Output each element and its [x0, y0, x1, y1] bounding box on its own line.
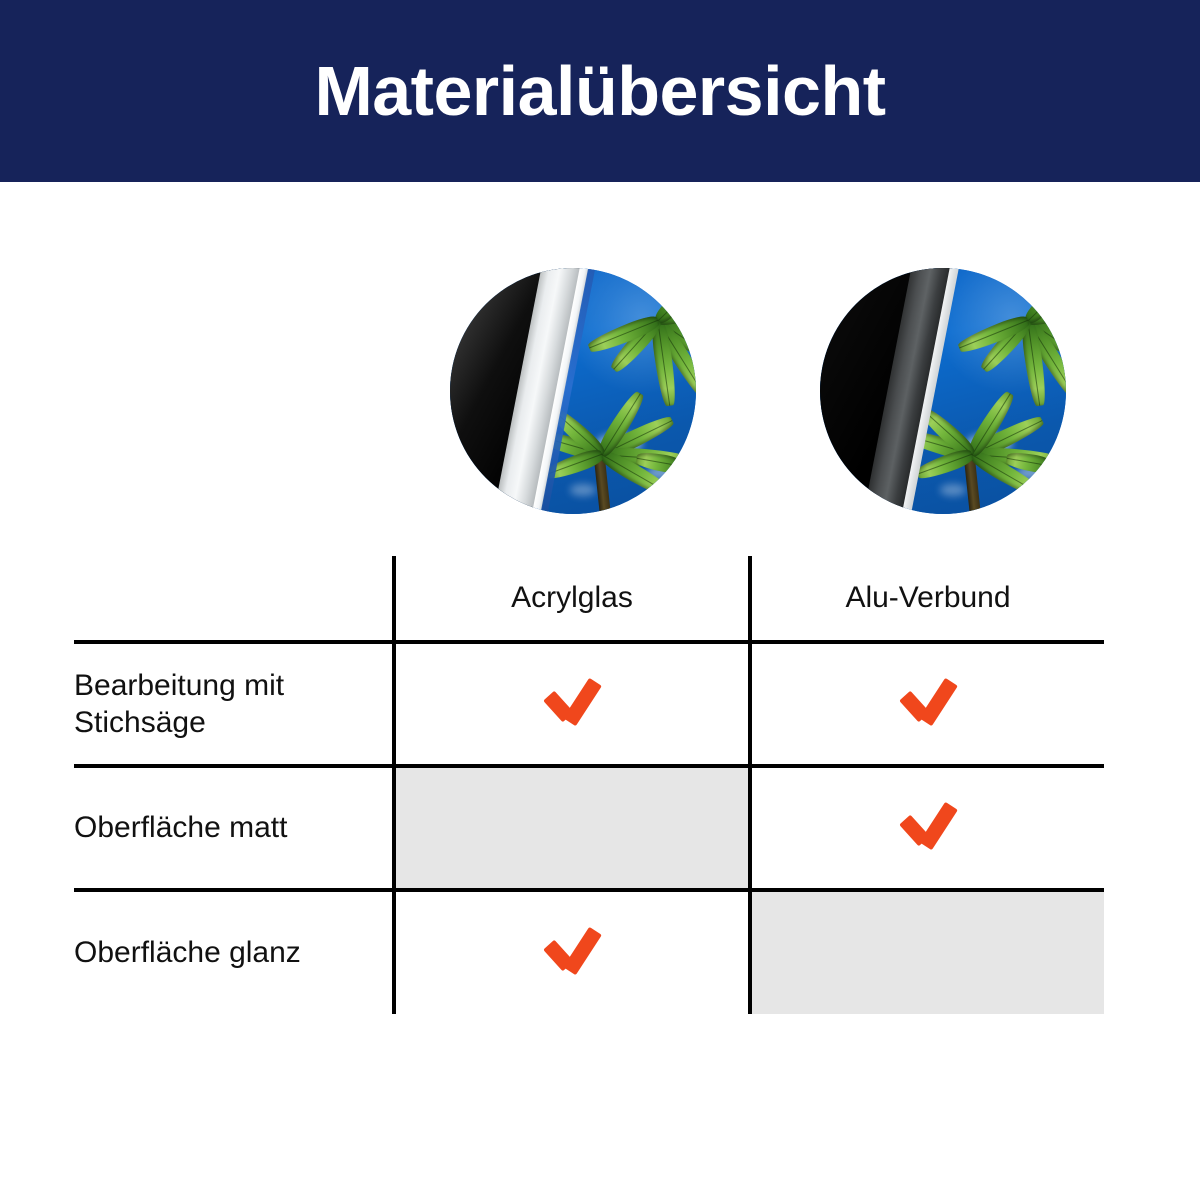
- palm-sky-scene: [820, 268, 1066, 514]
- cloud-shape: [940, 484, 966, 496]
- row-label-line1: Oberfläche matt: [74, 811, 287, 844]
- preview-row: [0, 268, 1200, 518]
- material-comparison-table-wrapper: Acrylglas Alu-Verbund Bearbeitung mit St…: [74, 556, 1104, 1014]
- cell-matt-alu-verbund: [750, 766, 1104, 890]
- cell-matt-acrylglas: [394, 766, 750, 890]
- row-label-bearbeitung: Bearbeitung mit Stichsäge: [74, 642, 394, 766]
- row-label-oberflaeche-matt: Oberfläche matt: [74, 766, 394, 890]
- table-row: Bearbeitung mit Stichsäge: [74, 642, 1104, 766]
- table-row: Oberfläche matt: [74, 766, 1104, 890]
- check-mark-icon: [900, 680, 956, 724]
- header-blank-cell: [74, 556, 394, 642]
- table-header-row: Acrylglas Alu-Verbund: [74, 556, 1104, 642]
- column-header-acrylglas: Acrylglas: [394, 556, 750, 642]
- header-banner: Materialübersicht: [0, 0, 1200, 182]
- check-mark-icon: [544, 929, 600, 973]
- cell-bearbeitung-alu-verbund: [750, 642, 1104, 766]
- row-label-line1: Bearbeitung mit: [74, 669, 284, 702]
- check-mark-icon: [544, 680, 600, 724]
- material-comparison-table: Acrylglas Alu-Verbund Bearbeitung mit St…: [74, 556, 1104, 1014]
- cloud-shape: [570, 484, 596, 496]
- cell-glanz-alu-verbund: [750, 890, 1104, 1014]
- page-title: Materialübersicht: [314, 56, 885, 126]
- alu-verbund-preview-image: [820, 268, 1066, 514]
- check-mark-icon: [900, 804, 956, 848]
- row-label-line2: Stichsäge: [74, 706, 206, 739]
- row-label-oberflaeche-glanz: Oberfläche glanz: [74, 890, 394, 1014]
- acrylglas-preview-image: [450, 268, 696, 514]
- cell-glanz-acrylglas: [394, 890, 750, 1014]
- column-header-alu-verbund: Alu-Verbund: [750, 556, 1104, 642]
- cell-bearbeitung-acrylglas: [394, 642, 750, 766]
- row-label-line1: Oberfläche glanz: [74, 936, 301, 969]
- palm-sky-scene: [450, 268, 696, 514]
- table-row: Oberfläche glanz: [74, 890, 1104, 1014]
